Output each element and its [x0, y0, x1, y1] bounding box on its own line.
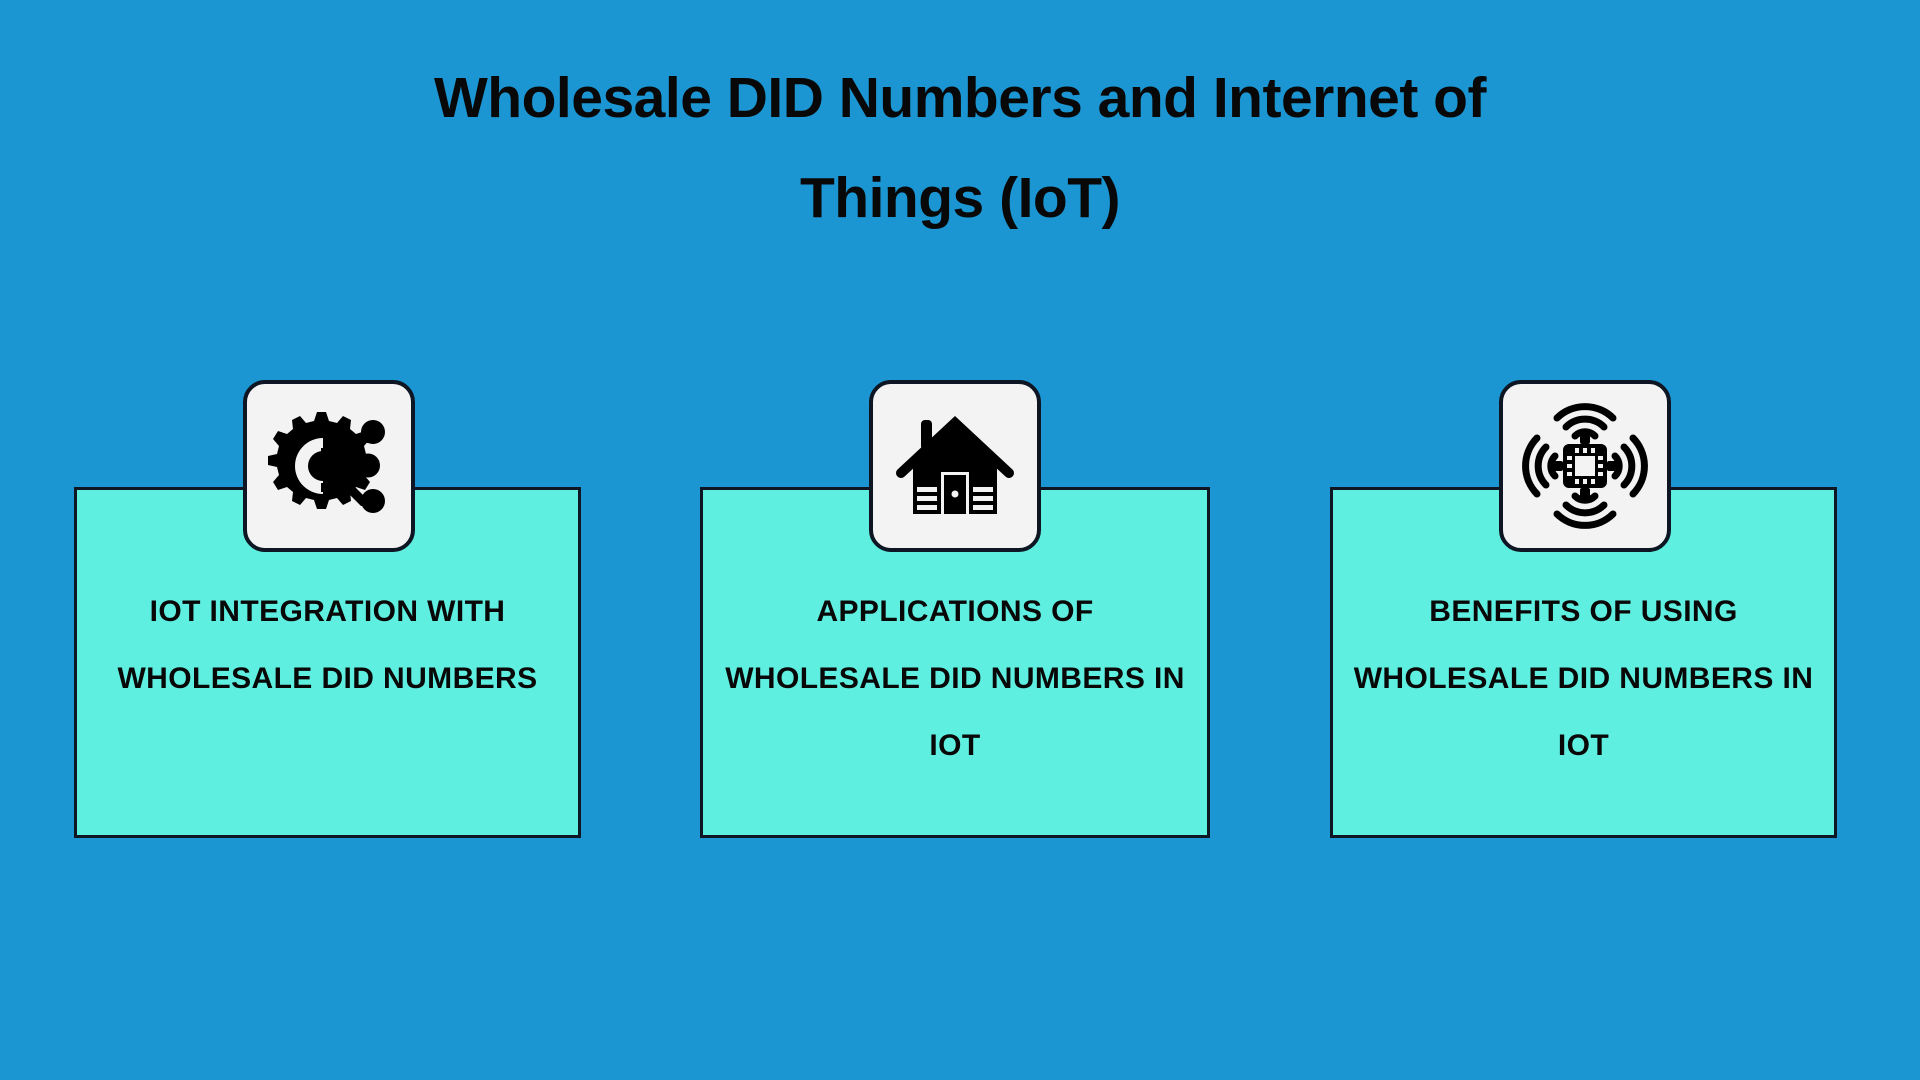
- icon-tile: [1499, 380, 1671, 552]
- cards-row: IOT INTEGRATION WITH WHOLESALE DID NUMBE…: [0, 0, 1920, 1080]
- smart-home-icon: [891, 402, 1019, 530]
- icon-tile: [243, 380, 415, 552]
- card-label: APPLICATIONS OF WHOLESALE DID NUMBERS IN…: [717, 578, 1193, 779]
- icon-tile: [869, 380, 1041, 552]
- infographic-canvas: Wholesale DID Numbers and Internet of Th…: [0, 0, 1920, 1080]
- gear-circuit-icon: [265, 402, 393, 530]
- card-label: IOT INTEGRATION WITH WHOLESALE DID NUMBE…: [91, 578, 564, 712]
- card-label: BENEFITS OF USING WHOLESALE DID NUMBERS …: [1347, 578, 1820, 779]
- wireless-chip-icon: [1521, 402, 1649, 530]
